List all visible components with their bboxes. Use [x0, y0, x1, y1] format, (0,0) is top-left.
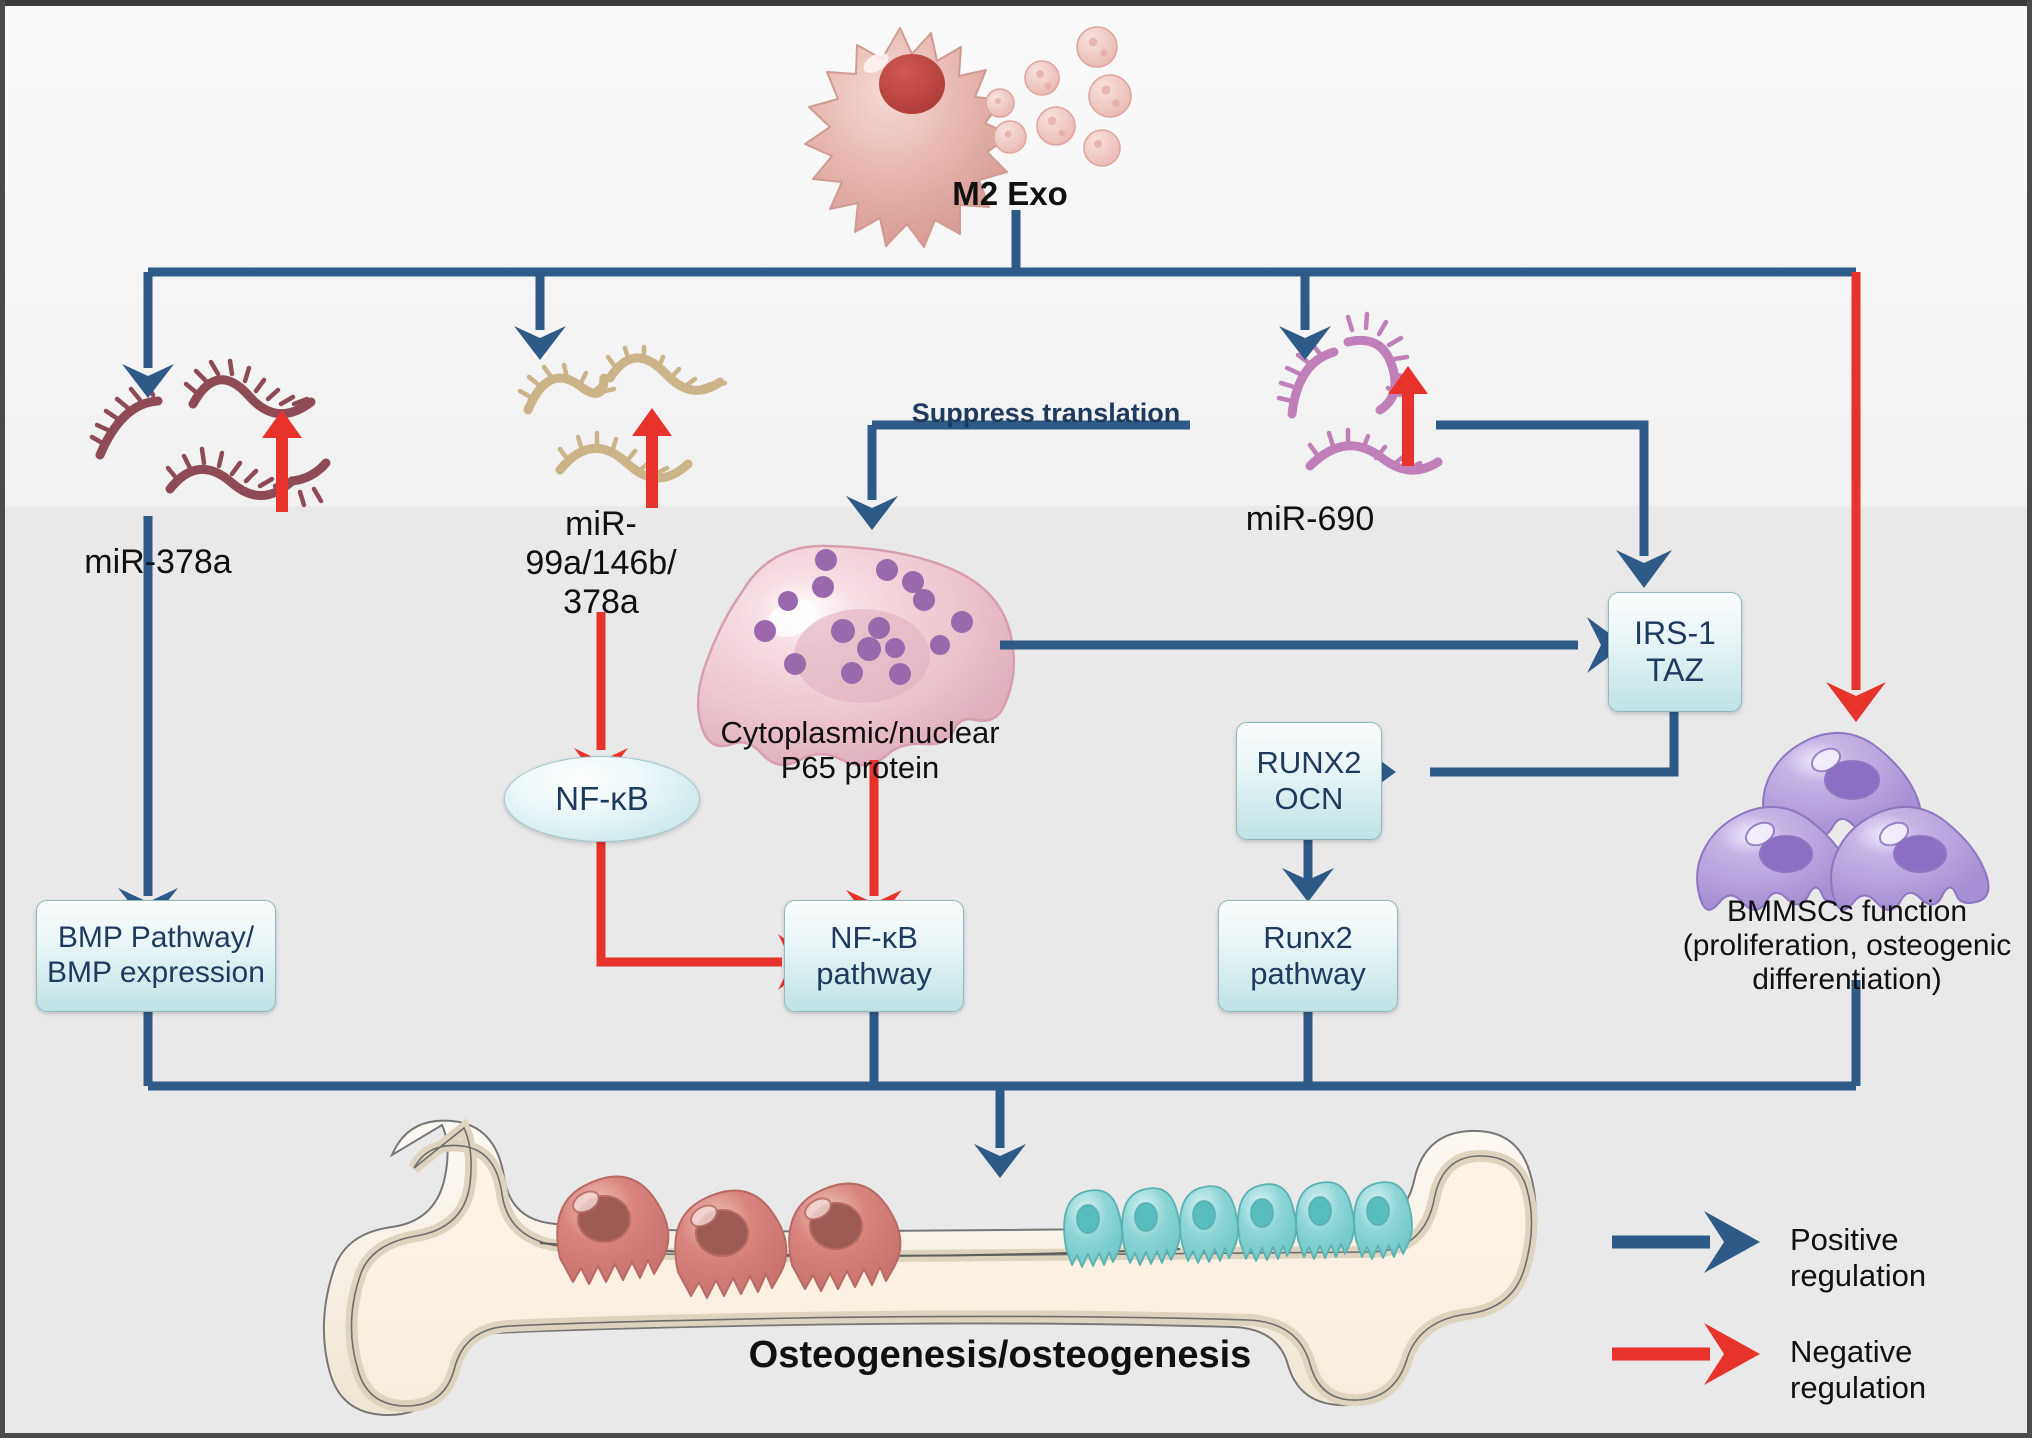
osteogenesis-label: Osteogenesis/osteogenesis	[640, 1334, 1360, 1377]
legend-positive-label: Positive regulation	[1790, 1222, 2032, 1294]
mir-690-label: miR-690	[1190, 500, 1430, 539]
suppress-translation-label: Suppress translation	[886, 398, 1206, 429]
runx2-pathway-node[interactable]: Runx2 pathway	[1218, 900, 1398, 1012]
mir-99a-146b-378a-label: miR- 99a/146b/ 378a	[466, 505, 736, 621]
bmp-pathway-node[interactable]: BMP Pathway/ BMP expression	[36, 900, 276, 1012]
mir-378a-label: miR-378a	[28, 543, 288, 582]
text-layer: M2 Exo miR-378a miR- 99a/146b/ 378a Supp…	[0, 0, 2032, 1438]
m2-exo-label: M2 Exo	[880, 175, 1140, 213]
p65-protein-label: Cytoplasmic/nuclear P65 protein	[700, 715, 1020, 786]
nf-kb-oval-node[interactable]: NF-κB	[504, 756, 700, 842]
runx2-ocn-node[interactable]: RUNX2 OCN	[1236, 722, 1382, 840]
nf-kb-pathway-node[interactable]: NF-κB pathway	[784, 900, 964, 1012]
bmp-pathway-label: BMP Pathway/ BMP expression	[47, 921, 265, 991]
figure-canvas: M2 Exo miR-378a miR- 99a/146b/ 378a Supp…	[0, 0, 2032, 1438]
irs1-taz-label: IRS-1 TAZ	[1634, 615, 1716, 689]
runx2-pathway-label: Runx2 pathway	[1250, 920, 1365, 992]
irs1-taz-node[interactable]: IRS-1 TAZ	[1608, 592, 1742, 712]
legend-negative-label: Negative regulation	[1790, 1334, 2032, 1406]
runx2-ocn-label: RUNX2 OCN	[1256, 745, 1361, 817]
nf-kb-oval-label: NF-κB	[555, 780, 649, 818]
bmmscs-function-label: BMMSCs function (proliferation, osteogen…	[1672, 895, 2022, 998]
nf-kb-pathway-label: NF-κB pathway	[816, 920, 931, 992]
